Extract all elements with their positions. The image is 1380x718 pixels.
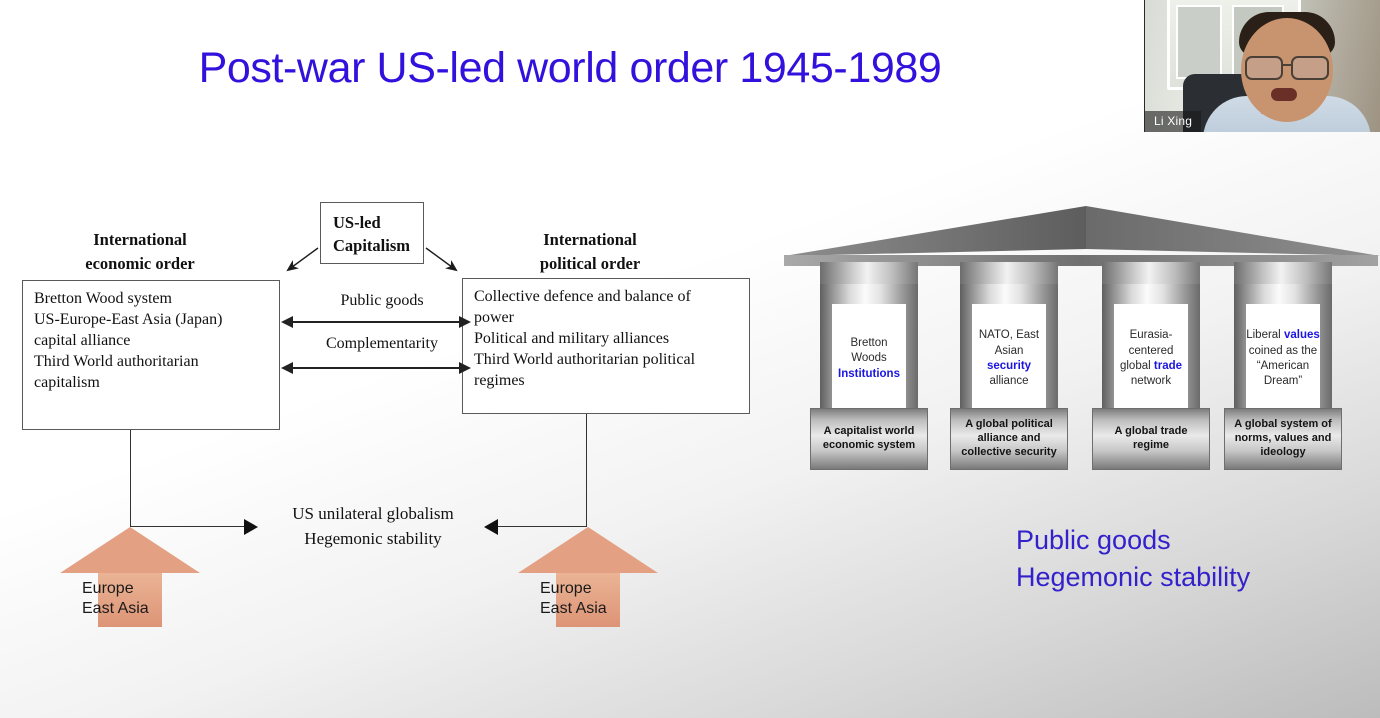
pillar-3-highlight: trade [1154, 360, 1182, 372]
pillar-1-panel: Bretton Woods Institutions [832, 304, 906, 414]
webcam-person-mouth [1271, 88, 1297, 101]
up-arrow-right-line1: Europe [540, 579, 658, 599]
pillar-3-panel: Eurasia- centered global trade network [1114, 304, 1188, 414]
pillar-1-highlight: Institutions [838, 368, 900, 380]
hegemony-label: US unilateral globalism Hegemonic stabil… [268, 502, 478, 551]
pillar-2-panel: NATO, East Asian security alliance [972, 304, 1046, 414]
pillar-2-line3: alliance [990, 375, 1029, 387]
hegemony-label-line1: US unilateral globalism [268, 502, 478, 527]
pillar-2: NATO, East Asian security alliance A glo… [960, 262, 1058, 462]
pillar-3: Eurasia- centered global trade network A… [1102, 262, 1200, 462]
public-goods-summary: Public goods Hegemonic stability [1016, 522, 1250, 595]
temple-diagram: Bretton Woods Institutions A capitalist … [782, 200, 1380, 480]
economic-order-line-0: Bretton Wood system [34, 289, 270, 310]
economic-order-line-4: capitalism [34, 373, 270, 394]
pillar-4-base: A global system of norms, values and ide… [1224, 408, 1342, 470]
webcam-person-glasses [1245, 56, 1329, 76]
pillar-4-highlight: values [1284, 329, 1320, 341]
up-arrow-right-line2: East Asia [540, 599, 658, 619]
pillar-3-line2: centered [1129, 345, 1174, 357]
pillar-4-line3: “American [1257, 360, 1309, 372]
up-arrow-left-line1: Europe [82, 579, 200, 599]
pillar-2-base: A global political alliance and collecti… [950, 408, 1068, 470]
complementarity-arrow [292, 367, 460, 369]
public-goods-summary-line2: Hegemonic stability [1016, 559, 1250, 596]
economic-order-box: Bretton Wood system US-Europe-East Asia … [22, 280, 280, 430]
up-arrow-right: Europe East Asia [518, 527, 658, 627]
pillar-1-line1: Bretton [850, 337, 887, 349]
complementarity-label: Complementarity [286, 335, 478, 353]
pillar-4-line1: Liberal [1246, 329, 1281, 341]
economic-order-line-2: capital alliance [34, 331, 270, 352]
pillar-3-base: A global trade regime [1092, 408, 1210, 470]
public-goods-summary-line1: Public goods [1016, 522, 1250, 559]
pillar-1-base: A capitalist world economic system [810, 408, 928, 470]
political-order-line-3: Third World authoritarian political [474, 350, 740, 371]
webcam-video-tile[interactable]: Li Xing [1144, 0, 1380, 132]
pillar-1-line2: Woods [851, 352, 887, 364]
up-arrow-right-label: Europe East Asia [518, 579, 658, 620]
pillar-2-line1: NATO, East [979, 329, 1039, 341]
webcam-participant-name: Li Xing [1145, 111, 1201, 132]
pillar-1: Bretton Woods Institutions A capitalist … [820, 262, 918, 462]
political-order-line-4: regimes [474, 371, 740, 392]
up-arrow-left-label: Europe East Asia [60, 579, 200, 620]
pillar-4-line2: coined as the [1249, 345, 1317, 357]
pillar-3-line1: Eurasia- [1130, 329, 1173, 341]
pillar-3-line3: global [1120, 360, 1151, 372]
flow-diagram: International economic order Internation… [0, 180, 790, 650]
hegemony-label-line2: Hegemonic stability [268, 527, 478, 552]
economic-order-line-3: Third World authoritarian [34, 352, 270, 373]
political-order-box: Collective defence and balance of power … [462, 278, 750, 414]
pillar-4-panel: Liberal values coined as the “American D… [1246, 304, 1320, 414]
pillar-3-line4: network [1131, 375, 1171, 387]
temple-roof [782, 200, 1380, 268]
page-title: Post-war US-led world order 1945-1989 [0, 44, 1140, 93]
economic-order-line-1: US-Europe-East Asia (Japan) [34, 310, 270, 331]
political-order-line-1: power [474, 308, 740, 329]
slide-canvas: Post-war US-led world order 1945-1989 Li… [0, 0, 1380, 718]
left-connector-arrowhead-icon [244, 519, 258, 535]
pillar-4-line4: Dream” [1264, 375, 1302, 387]
right-connector-vertical [586, 414, 587, 527]
political-order-line-2: Political and military alliances [474, 329, 740, 350]
public-goods-label: Public goods [290, 292, 474, 310]
left-connector-vertical [130, 430, 131, 527]
up-arrow-left-line2: East Asia [82, 599, 200, 619]
pillar-4: Liberal values coined as the “American D… [1234, 262, 1332, 462]
public-goods-arrow [292, 321, 460, 323]
pillar-2-highlight: security [987, 360, 1031, 372]
political-order-line-0: Collective defence and balance of [474, 287, 740, 308]
up-arrow-left: Europe East Asia [60, 527, 200, 627]
pillar-2-line2: Asian [995, 345, 1024, 357]
right-connector-arrowhead-icon [484, 519, 498, 535]
